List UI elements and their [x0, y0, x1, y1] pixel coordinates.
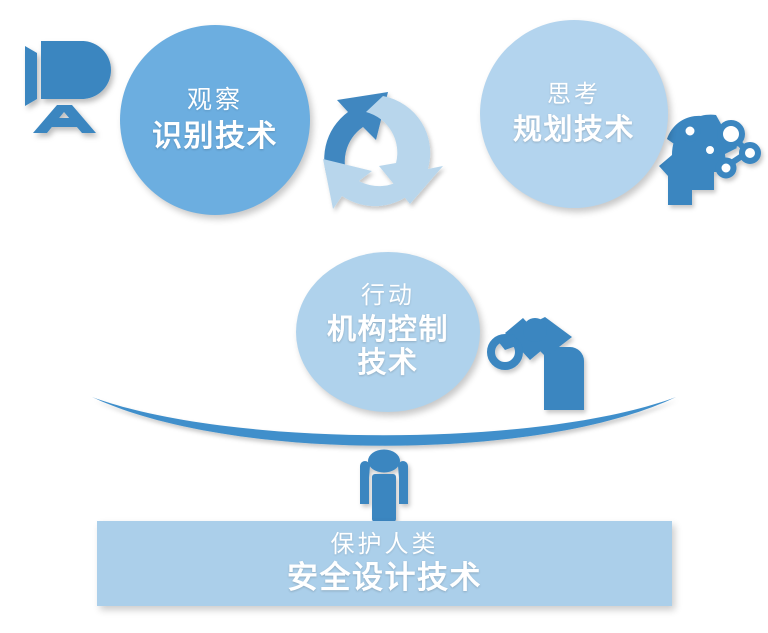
node-think-subtitle: 思考: [547, 82, 601, 109]
node-act-title-line2: 技术: [357, 347, 418, 380]
node-observe-subtitle: 观察: [187, 86, 243, 114]
node-observe-title: 识别技术: [152, 120, 278, 154]
brain-net-icon: [659, 115, 758, 205]
diagram-canvas: 观察 识别技术 思考 规划技术 行动 机构控制 技术 保护人类 安全设计技术: [0, 0, 768, 633]
cycle-arrows-icon: [323, 92, 443, 209]
foundation-subtitle: 保护人类: [331, 532, 439, 558]
node-think[interactable]: 思考 规划技术: [480, 20, 668, 208]
camera-icon: [25, 41, 111, 133]
node-think-title: 规划技术: [513, 114, 635, 146]
node-act-title-line1: 机构控制: [327, 314, 449, 347]
robot-arm-icon: [491, 317, 584, 410]
foundation-safety-bar[interactable]: 保护人类 安全设计技术: [97, 521, 672, 606]
person-icon: [360, 450, 408, 528]
node-act[interactable]: 行动 机构控制 技术: [296, 252, 480, 412]
node-act-subtitle: 行动: [361, 283, 415, 310]
foundation-title: 安全设计技术: [287, 561, 482, 595]
node-observe[interactable]: 观察 识别技术: [120, 25, 310, 215]
